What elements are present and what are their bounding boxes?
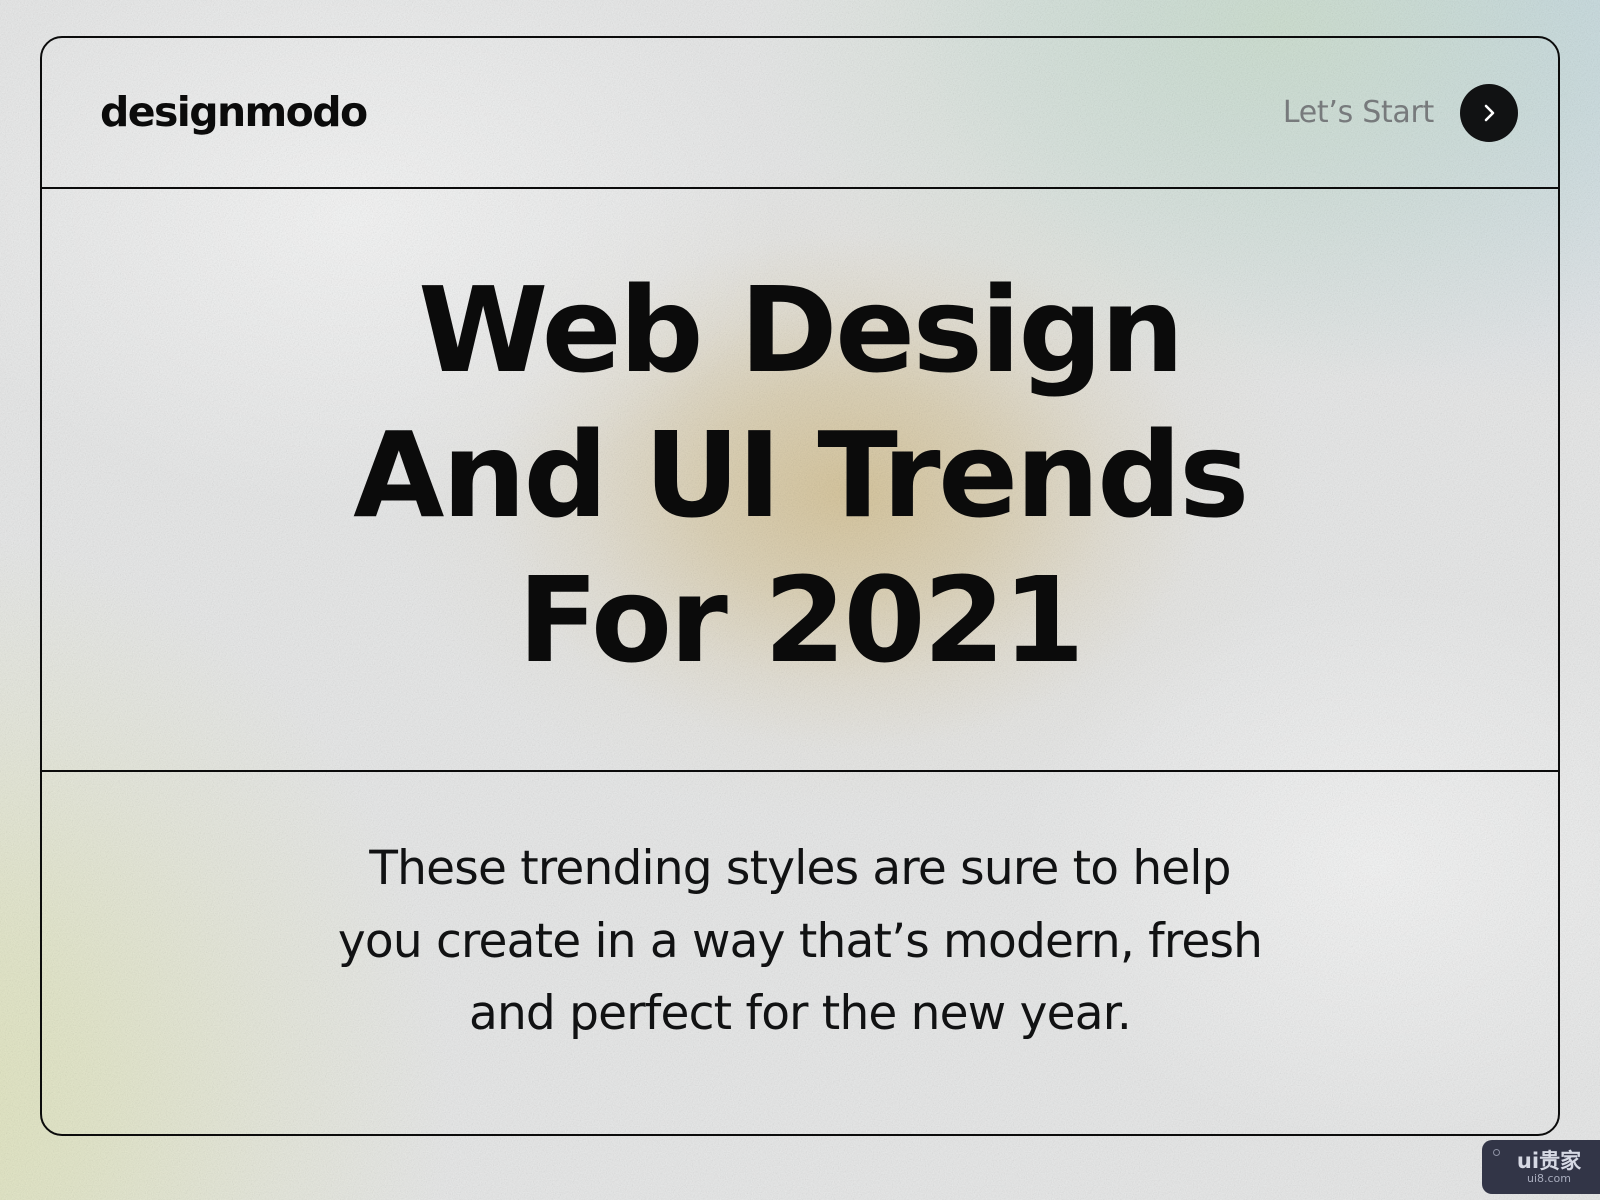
card-subtitle-section: These trending styles are sure to help y…: [42, 772, 1558, 1134]
page-title: Web Design And UI Trends For 2021: [353, 258, 1247, 701]
watermark-url: ui8.com: [1511, 1173, 1571, 1184]
header-actions: Let’s Start: [1283, 84, 1518, 142]
hero-card: designmodo Let’s Start Web Design And UI…: [40, 36, 1560, 1136]
lets-start-button[interactable]: [1460, 84, 1518, 142]
page-canvas: designmodo Let’s Start Web Design And UI…: [0, 0, 1600, 1200]
page-subtitle: These trending styles are sure to help y…: [338, 833, 1262, 1072]
chevron-right-icon: [1476, 100, 1502, 126]
card-header: designmodo Let’s Start: [42, 38, 1558, 189]
card-hero-section: Web Design And UI Trends For 2021: [42, 189, 1558, 772]
watermark-dot-icon: [1493, 1149, 1500, 1156]
designmodo-logo[interactable]: designmodo: [100, 92, 367, 133]
ui8-watermark: ui贵家 ui8.com: [1482, 1140, 1600, 1194]
watermark-title: ui贵家: [1501, 1151, 1581, 1172]
lets-start-label[interactable]: Let’s Start: [1283, 95, 1434, 130]
